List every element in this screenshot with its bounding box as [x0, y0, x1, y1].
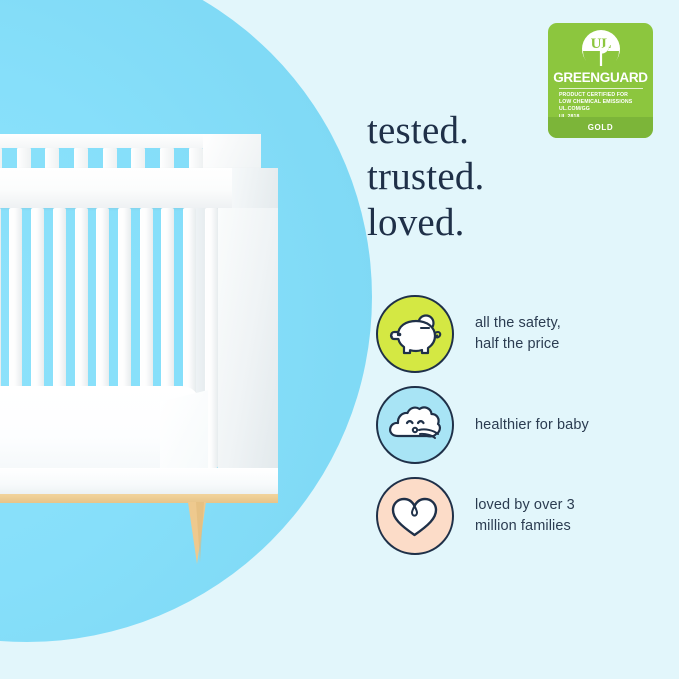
headline-line-2: trusted.: [367, 154, 647, 200]
feature-item-safety: all the safety, half the price: [376, 292, 656, 376]
feature-list: all the safety, half the price healthier…: [376, 292, 656, 565]
marketing-banner: UL GREENGUARD PRODUCT CERTIFIED FOR LOW …: [0, 0, 679, 679]
feature-text-healthier: healthier for baby: [475, 415, 589, 436]
feature-text-loved: loved by over 3 million families: [475, 495, 575, 537]
feature-loved-line-2: million families: [475, 516, 575, 537]
ul-logo-icon: UL: [581, 29, 621, 69]
piggy-bank-icon: [376, 295, 454, 373]
feature-safety-line-2: half the price: [475, 334, 561, 355]
feature-item-loved: loved by over 3 million families: [376, 474, 656, 558]
feature-item-healthier: healthier for baby: [376, 383, 656, 467]
cloud-breathing-icon: [376, 386, 454, 464]
feature-safety-line-1: all the safety,: [475, 313, 561, 334]
headline-line-1: tested.: [367, 108, 647, 154]
heart-icon: [376, 477, 454, 555]
crib-base-rail: [0, 468, 278, 496]
crib-wood-trim: [0, 494, 278, 503]
badge-divider: [559, 88, 643, 89]
headline-line-3: loved.: [367, 200, 647, 246]
greenguard-title: GREENGUARD: [548, 71, 653, 85]
product-image-crib: [0, 128, 290, 568]
feature-loved-line-1: loved by over 3: [475, 495, 575, 516]
crib-end-panel: [218, 208, 278, 470]
cert-line-2: LOW CHEMICAL EMISSIONS: [559, 99, 653, 106]
crib-wood-leg-shadow: [196, 502, 204, 562]
page-title: tested. trusted. loved.: [367, 108, 647, 246]
feature-healthier-line-1: healthier for baby: [475, 415, 589, 436]
cert-line-1: PRODUCT CERTIFIED FOR: [559, 92, 653, 99]
crib-top-rail-edge: [232, 168, 278, 208]
feature-text-safety: all the safety, half the price: [475, 313, 561, 355]
